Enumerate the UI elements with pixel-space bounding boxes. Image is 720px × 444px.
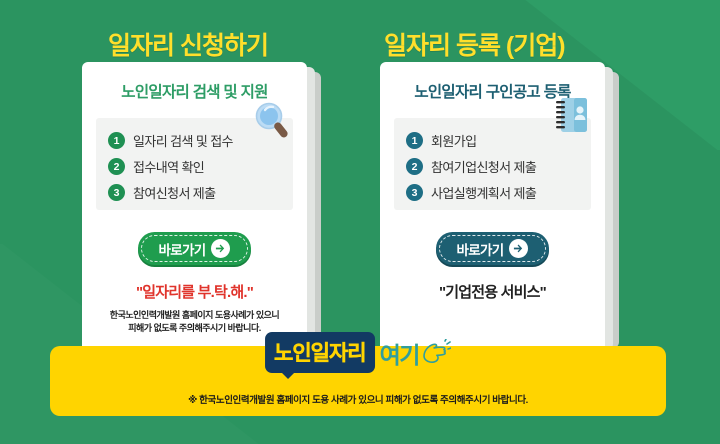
card-register-job[interactable]: 노인일자리 구인공고 등록 [380, 62, 605, 352]
card-title-left: 노인일자리 검색 및 지원 [96, 80, 293, 102]
step-badge: 1 [406, 132, 423, 149]
step-badge: 2 [108, 158, 125, 175]
heading-right: 일자리 등록 (기업) [384, 26, 565, 62]
bottom-banner: 노인일자리 여기 ※ 한국노인인력개발원 홈페이지 도용 사례가 있으니 피해가… [50, 346, 666, 416]
step-label: 참여신청서 제출 [133, 183, 216, 202]
go-button-label: 바로가기 [159, 239, 206, 259]
go-button-right[interactable]: 바로가기 [436, 232, 549, 265]
list-item: 2 접수내역 확인 [108, 157, 283, 176]
card-apply-for-job[interactable]: 노인일자리 검색 및 지원 1 일자리 검색 및 접수 2 접수내역 확인 3 [82, 62, 307, 352]
go-button-left[interactable]: 바로가기 [138, 232, 251, 265]
caption-line-2: 피해가 없도록 주의해주시기 바랍니다. [96, 322, 293, 335]
site-logo[interactable]: 노인일자리 여기 [265, 332, 451, 373]
step-label: 회원가입 [431, 131, 476, 150]
step-badge: 3 [406, 184, 423, 201]
banner-note: ※ 한국노인인력개발원 홈페이지 도용 사례가 있으니 피해가 없도록 주의해주… [50, 392, 666, 406]
list-item: 3 사업실행계획서 제출 [406, 183, 581, 202]
quote-right: "기업전용 서비스" [394, 281, 591, 302]
magnifier-icon [251, 102, 295, 142]
card-surface-right: 노인일자리 구인공고 등록 [380, 62, 605, 352]
go-button-label: 바로가기 [457, 239, 504, 259]
step-list-left: 1 일자리 검색 및 접수 2 접수내역 확인 3 참여신청서 제출 [96, 118, 293, 210]
step-list-right: 1 회원가입 2 참여기업신청서 제출 3 사업실행계획서 제출 [394, 118, 591, 210]
address-book-icon [555, 96, 589, 134]
heading-left: 일자리 신청하기 [108, 26, 268, 62]
pointing-hand-icon [421, 339, 451, 367]
step-badge: 2 [406, 158, 423, 175]
step-badge: 3 [108, 184, 125, 201]
caption-left: 한국노인인력개발원 홈페이지 도용사례가 있으니 피해가 없도록 주의해주시기 … [96, 309, 293, 335]
list-item: 2 참여기업신청서 제출 [406, 157, 581, 176]
step-label: 일자리 검색 및 접수 [133, 131, 233, 150]
caption-line-1: 한국노인인력개발원 홈페이지 도용사례가 있으니 [96, 309, 293, 322]
step-label: 접수내역 확인 [133, 157, 204, 176]
quote-left: "일자리를 부.탁.해." [96, 281, 293, 302]
list-item: 3 참여신청서 제출 [108, 183, 283, 202]
step-label: 참여기업신청서 제출 [431, 157, 536, 176]
logo-bubble: 노인일자리 [265, 332, 375, 373]
logo-accent-text: 여기 [380, 336, 419, 370]
card-surface-left: 노인일자리 검색 및 지원 1 일자리 검색 및 접수 2 접수내역 확인 3 [82, 62, 307, 352]
logo-bubble-text: 노인일자리 [274, 342, 366, 365]
step-label: 사업실행계획서 제출 [431, 183, 536, 202]
step-badge: 1 [108, 132, 125, 149]
